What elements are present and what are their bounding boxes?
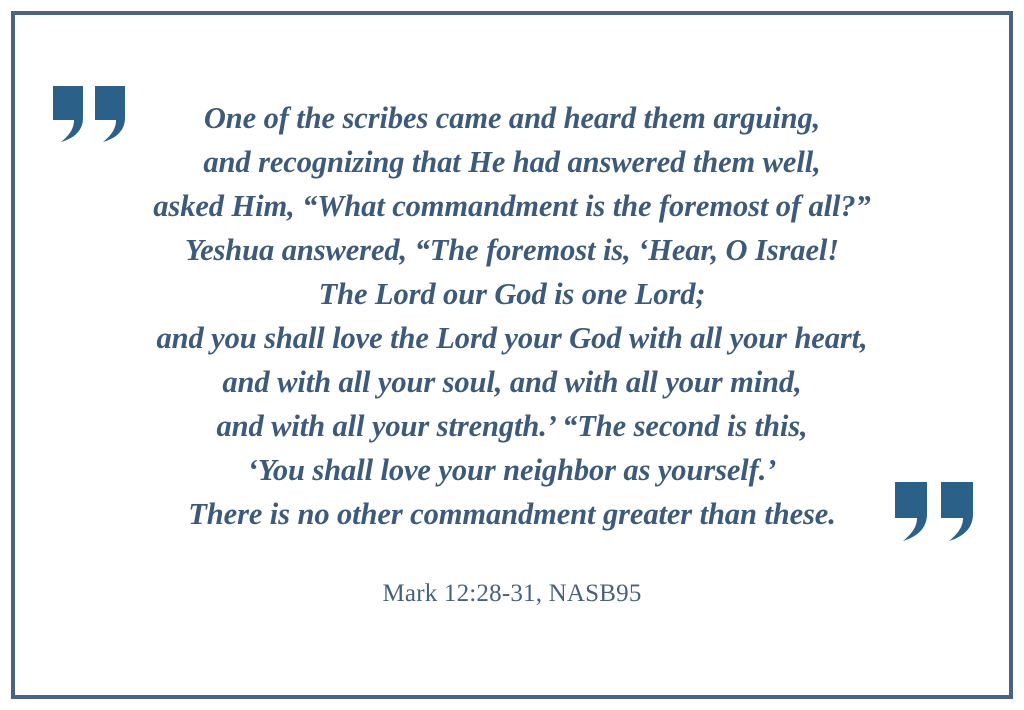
quote-body: One of the scribes came and heard them a… <box>0 0 1024 710</box>
verse-line: The Lord our God is one Lord; <box>0 272 1024 316</box>
verse-line: ‘You shall love your neighbor as yoursel… <box>0 448 1024 492</box>
verse-line: asked Him, “What commandment is the fore… <box>0 184 1024 228</box>
citation-reference: Mark 12:28-31, NASB95 <box>0 580 1024 608</box>
verse-line: and with all your strength.’ “The second… <box>0 404 1024 448</box>
verse-line: and you shall love the Lord your God wit… <box>0 316 1024 360</box>
verse-line: and recognizing that He had answered the… <box>0 140 1024 184</box>
quote-card: One of the scribes came and heard them a… <box>0 0 1024 710</box>
verse-line: Yeshua answered, “The foremost is, ‘Hear… <box>0 228 1024 272</box>
verse-line: One of the scribes came and heard them a… <box>0 96 1024 140</box>
verse-line: and with all your soul, and with all you… <box>0 360 1024 404</box>
verse-line: There is no other commandment greater th… <box>0 492 1024 536</box>
verse-text-block: One of the scribes came and heard them a… <box>0 96 1024 536</box>
close-quote-icon <box>893 480 977 544</box>
